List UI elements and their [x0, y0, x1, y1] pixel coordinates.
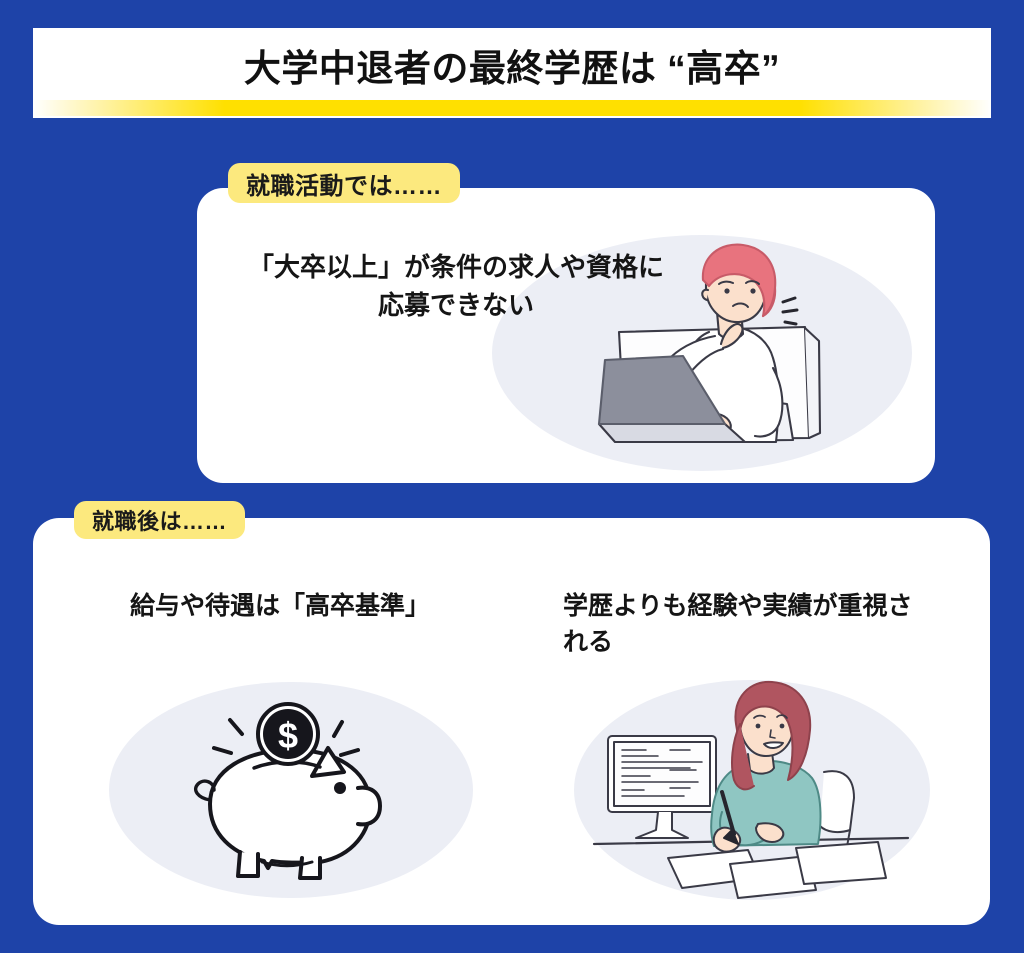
illustration-piggy-bank: $	[106, 672, 476, 908]
text-experience-valued: 学歴よりも経験や実績が重視される	[563, 588, 933, 661]
header-underline-bar	[33, 100, 991, 116]
badge-job-hunting: 就職活動では……	[228, 163, 460, 203]
svg-text:$: $	[278, 715, 298, 756]
text-job-hunting: 「大卒以上」が条件の求人や資格に応募できない	[246, 249, 666, 324]
illustration-woman-at-desk	[572, 672, 932, 908]
badge-after-employment: 就職後は……	[74, 501, 245, 539]
text-salary-standard: 給与や待遇は「高卒基準」	[70, 588, 490, 624]
page-title: 大学中退者の最終学歴は “高卒”	[244, 49, 780, 90]
